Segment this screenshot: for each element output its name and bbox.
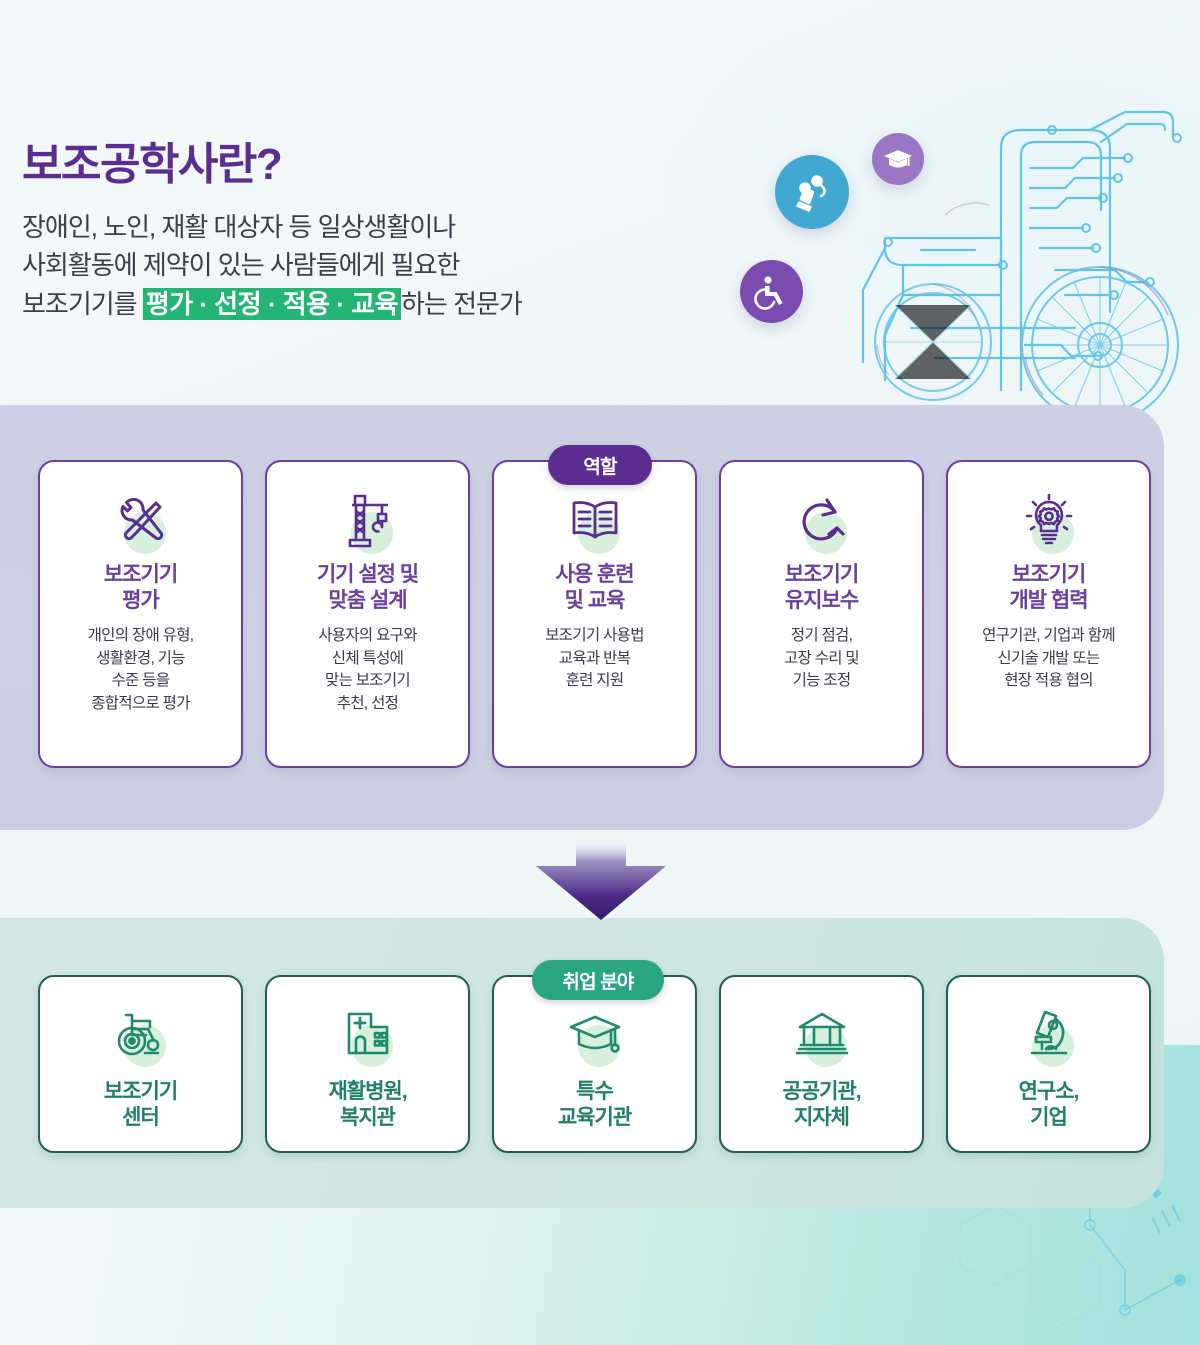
role-card-icon	[112, 488, 170, 554]
bubble-robot-arm	[775, 155, 849, 229]
job-card-title: 특수 교육기관	[558, 1079, 631, 1130]
role-card-desc: 사용자의 요구와 신체 특성에 맞는 보조기기 추천, 선정	[318, 625, 417, 715]
hospital-building-icon	[339, 1005, 397, 1063]
job-card-icon	[112, 1001, 170, 1067]
bubble-graduation-cap	[872, 133, 924, 185]
lightbulb-gear-icon	[1020, 492, 1078, 550]
role-card-desc: 개인의 장애 유형, 생활환경, 기능 수준 등을 종합적으로 평가	[88, 625, 194, 715]
refresh-cycle-icon	[793, 492, 851, 550]
role-card-desc: 보조기기 사용법 교육과 반복 훈련 지원	[545, 625, 644, 692]
badge-role: 역할	[548, 445, 652, 485]
subtitle-line-2: 사회활동에 제약이 있는 사람들에게 필요한	[22, 246, 722, 284]
job-card-icon	[566, 1001, 624, 1067]
job-card-special-education[interactable]: 특수 교육기관	[492, 975, 697, 1153]
job-card-title: 공공기관, 지자체	[782, 1079, 860, 1130]
page-subtitle: 장애인, 노인, 재활 대상자 등 일상생활이나 사회활동에 제약이 있는 사람…	[22, 208, 722, 323]
role-card-training[interactable]: 사용 훈련 및 교육 보조기기 사용법 교육과 반복 훈련 지원	[492, 460, 697, 768]
job-card-title: 재활병원, 복지관	[328, 1079, 406, 1130]
government-bank-icon	[793, 1005, 851, 1063]
hero-illustration	[730, 95, 1200, 425]
role-card-custom-design[interactable]: 기기 설정 및 맞춤 설계 사용자의 요구와 신체 특성에 맞는 보조기기 추천…	[265, 460, 470, 768]
page-title: 보조공학사란?	[22, 128, 722, 192]
microscope-icon	[1020, 1005, 1078, 1063]
job-card-title: 연구소, 기업	[1019, 1079, 1079, 1130]
graduation-cap-icon	[566, 1005, 624, 1063]
role-card-title: 보조기기 개발 협력	[1009, 562, 1087, 613]
job-card-at-center[interactable]: 보조기기 센터	[38, 975, 243, 1153]
role-card-assessment[interactable]: 보조기기 평가 개인의 장애 유형, 생활환경, 기능 수준 등을 종합적으로 …	[38, 460, 243, 768]
role-card-title: 보조기기 평가	[104, 562, 177, 613]
subtitle-suffix: 하는 전문가	[401, 289, 522, 319]
role-card-title: 기기 설정 및 맞춤 설계	[317, 562, 418, 613]
subtitle-line-3: 보조기기를 평가 · 선정 · 적용 · 교육하는 전문가	[22, 285, 722, 323]
subtitle-line-1: 장애인, 노인, 재활 대상자 등 일상생활이나	[22, 208, 722, 246]
subtitle-prefix: 보조기기를	[22, 289, 143, 319]
role-card-development[interactable]: 보조기기 개발 협력 연구기관, 기업과 함께 신기술 개발 또는 현장 적용 …	[946, 460, 1151, 768]
job-card-research-company[interactable]: 연구소, 기업	[946, 975, 1151, 1153]
header-block: 보조공학사란? 장애인, 노인, 재활 대상자 등 일상생활이나 사회활동에 제…	[22, 128, 722, 323]
role-card-desc: 정기 점검, 고장 수리 및 기능 조정	[784, 625, 859, 692]
job-card-title: 보조기기 센터	[104, 1079, 177, 1130]
open-book-icon	[566, 492, 624, 550]
subtitle-highlight: 평가 · 선정 · 적용 · 교육	[143, 288, 401, 320]
job-card-hospital[interactable]: 재활병원, 복지관	[265, 975, 470, 1153]
role-card-title: 사용 훈련 및 교육	[555, 562, 633, 613]
role-card-icon	[566, 488, 624, 554]
role-card-title: 보조기기 유지보수	[785, 562, 858, 613]
job-card-icon	[1020, 1001, 1078, 1067]
role-card-maintenance[interactable]: 보조기기 유지보수 정기 점검, 고장 수리 및 기능 조정	[719, 460, 924, 768]
role-card-icon	[339, 488, 397, 554]
down-arrow	[536, 838, 666, 920]
role-card-desc: 연구기관, 기업과 함께 신기술 개발 또는 현장 적용 협의	[982, 625, 1115, 692]
bubble-wheelchair-access	[740, 260, 803, 323]
job-card-icon	[793, 1001, 851, 1067]
wheelchair-icon	[112, 1005, 170, 1063]
tools-wrench-screwdriver-icon	[112, 492, 170, 550]
job-card-public-institution[interactable]: 공공기관, 지자체	[719, 975, 924, 1153]
badge-job-field: 취업 분야	[532, 960, 664, 1000]
role-card-row: 보조기기 평가 개인의 장애 유형, 생활환경, 기능 수준 등을 종합적으로 …	[38, 460, 1151, 768]
robot-arm-icon	[791, 171, 833, 213]
role-card-icon	[793, 488, 851, 554]
graduation-cap-icon	[883, 144, 913, 174]
role-card-icon	[1020, 488, 1078, 554]
crane-icon	[339, 492, 397, 550]
job-card-icon	[339, 1001, 397, 1067]
job-card-row: 보조기기 센터 재활병원, 복지관	[38, 975, 1151, 1153]
wheelchair-accessibility-icon	[754, 274, 790, 310]
